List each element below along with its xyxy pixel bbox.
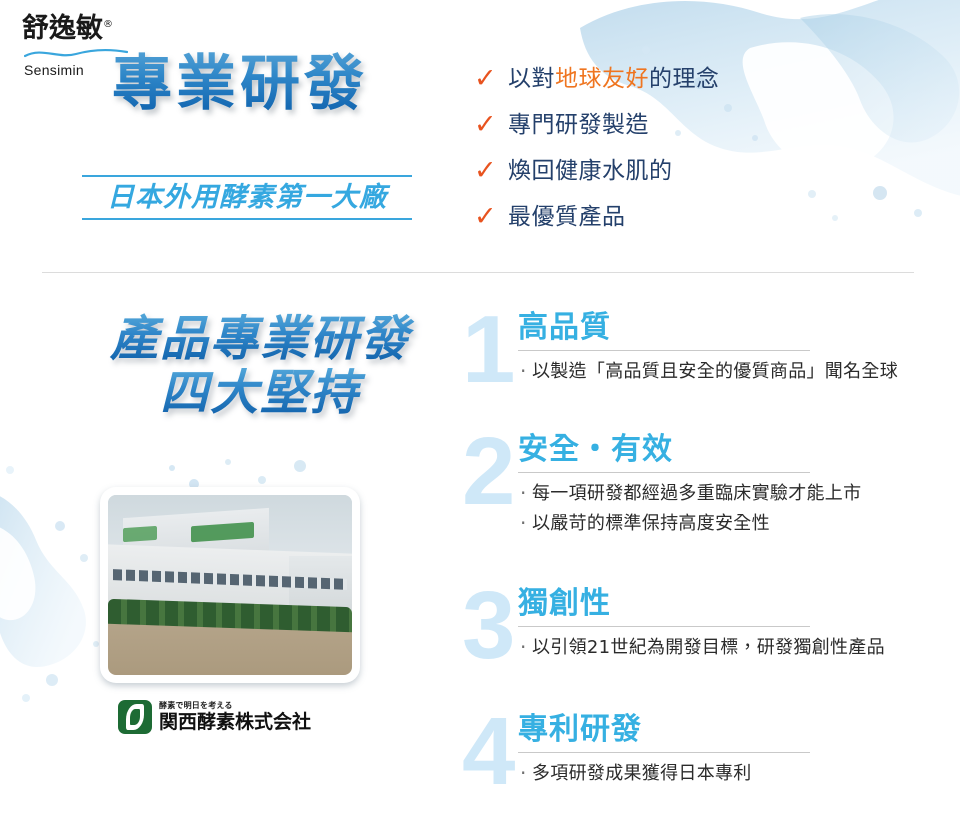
feature-title: 獨創性 bbox=[518, 586, 952, 622]
hero-subtitle-band: 日本外用酵素第一大廠 bbox=[82, 175, 412, 220]
feature-body: 專利研發 多項研發成果獲得日本專利 bbox=[518, 708, 952, 789]
check-icon: ✓ bbox=[474, 64, 508, 94]
check-icon: ✓ bbox=[474, 156, 508, 186]
checklist-item-suffix: 的理念 bbox=[649, 66, 720, 92]
feature-item-3: 3 獨創性 以引領21世紀為開發目標，研發獨創性產品 bbox=[462, 582, 952, 702]
feature-points: 多項研發成果獲得日本專利 bbox=[518, 759, 952, 789]
checklist-item: ✓ 煥回健康水肌的 bbox=[474, 156, 894, 202]
feature-number: 4 bbox=[462, 708, 518, 796]
feature-point: 以引領21世紀為開發目標，研發獨創性產品 bbox=[518, 633, 952, 663]
registered-trademark-icon: ® bbox=[103, 19, 113, 30]
feature-points: 以引領21世紀為開發目標，研發獨創性產品 bbox=[518, 633, 952, 663]
feature-point: 多項研發成果獲得日本專利 bbox=[518, 759, 952, 789]
feature-title: 專利研發 bbox=[518, 712, 952, 748]
checklist-item: ✓ 專門研發製造 bbox=[474, 110, 894, 156]
checklist-item-text: 專門研發製造 bbox=[508, 110, 649, 140]
feature-body: 安全・有效 每一項研發都經過多重臨床實驗才能上市 以嚴苛的標準保持高度安全性 bbox=[518, 428, 952, 539]
hero-subtitle: 日本外用酵素第一大廠 bbox=[82, 182, 412, 214]
checklist-item-prefix: 煥回健康水肌的 bbox=[508, 158, 673, 184]
feature-point: 每一項研發都經過多重臨床實驗才能上市 bbox=[518, 479, 952, 509]
feature-number: 2 bbox=[462, 428, 518, 516]
check-icon: ✓ bbox=[474, 202, 508, 232]
checklist-item-prefix: 專門研發製造 bbox=[508, 112, 649, 138]
feature-rule bbox=[518, 472, 810, 473]
feature-body: 高品質 以製造「高品質且安全的優質商品」聞名全球 bbox=[518, 306, 952, 387]
poster-page: 舒逸敏® Sensimin 專業研發 日本外用酵素第一大廠 ✓ 以對地球友好的理… bbox=[0, 0, 960, 835]
feature-rule bbox=[518, 626, 810, 627]
checklist-item-prefix: 最優質產品 bbox=[508, 204, 626, 230]
check-icon: ✓ bbox=[474, 110, 508, 140]
feature-body: 獨創性 以引領21世紀為開發目標，研發獨創性產品 bbox=[518, 582, 952, 663]
company-tagline: 酵素で明日を考える bbox=[159, 701, 311, 711]
feature-title: 高品質 bbox=[518, 310, 952, 346]
factory-photo bbox=[108, 495, 352, 675]
company-name: 関西酵素株式会社 bbox=[159, 711, 311, 733]
feature-list: 1 高品質 以製造「高品質且安全的優質商品」聞名全球 2 安全・有效 每一項研發… bbox=[462, 306, 952, 824]
leaf-mark-icon bbox=[118, 700, 152, 734]
section-divider bbox=[42, 272, 914, 273]
feature-item-2: 2 安全・有效 每一項研發都經過多重臨床實驗才能上市 以嚴苛的標準保持高度安全性 bbox=[462, 428, 952, 576]
hero-title: 專業研發 bbox=[112, 52, 368, 116]
feature-number: 3 bbox=[462, 582, 518, 670]
checklist: ✓ 以對地球友好的理念 ✓ 專門研發製造 ✓ 煥回健康水肌的 ✓ 最優質產品 bbox=[474, 64, 894, 248]
checklist-item-text: 以對地球友好的理念 bbox=[508, 64, 720, 94]
section2-heading: 產品專業研發 四大堅持 bbox=[60, 312, 460, 420]
feature-title: 安全・有效 bbox=[518, 432, 952, 468]
section2-heading-line2: 四大堅持 bbox=[60, 366, 460, 420]
checklist-item-highlight: 地球友好 bbox=[555, 66, 649, 92]
feature-point: 以製造「高品質且安全的優質商品」聞名全球 bbox=[518, 357, 952, 387]
checklist-item: ✓ 最優質產品 bbox=[474, 202, 894, 248]
leaf-shape bbox=[126, 704, 144, 730]
feature-rule bbox=[518, 350, 810, 351]
checklist-item-text: 最優質產品 bbox=[508, 202, 626, 232]
feature-points: 以製造「高品質且安全的優質商品」聞名全球 bbox=[518, 357, 952, 387]
photo-ground bbox=[108, 626, 352, 675]
brand-name-chinese-text: 舒逸敏 bbox=[22, 13, 103, 44]
checklist-item: ✓ 以對地球友好的理念 bbox=[474, 64, 894, 110]
feature-item-1: 1 高品質 以製造「高品質且安全的優質商品」聞名全球 bbox=[462, 306, 952, 422]
brand-name-chinese: 舒逸敏® bbox=[22, 10, 142, 44]
company-logo: 酵素で明日を考える 関西酵素株式会社 bbox=[118, 700, 311, 734]
feature-item-4: 4 專利研發 多項研發成果獲得日本專利 bbox=[462, 708, 952, 818]
section2-heading-line1: 產品專業研發 bbox=[60, 312, 460, 366]
factory-photo-frame bbox=[100, 487, 360, 683]
checklist-item-prefix: 以對 bbox=[508, 66, 555, 92]
checklist-item-text: 煥回健康水肌的 bbox=[508, 156, 673, 186]
feature-point: 以嚴苛的標準保持高度安全性 bbox=[518, 509, 952, 539]
feature-points: 每一項研發都經過多重臨床實驗才能上市 以嚴苛的標準保持高度安全性 bbox=[518, 479, 952, 539]
feature-rule bbox=[518, 752, 810, 753]
company-logo-text: 酵素で明日を考える 関西酵素株式会社 bbox=[159, 701, 311, 733]
feature-number: 1 bbox=[462, 306, 518, 394]
